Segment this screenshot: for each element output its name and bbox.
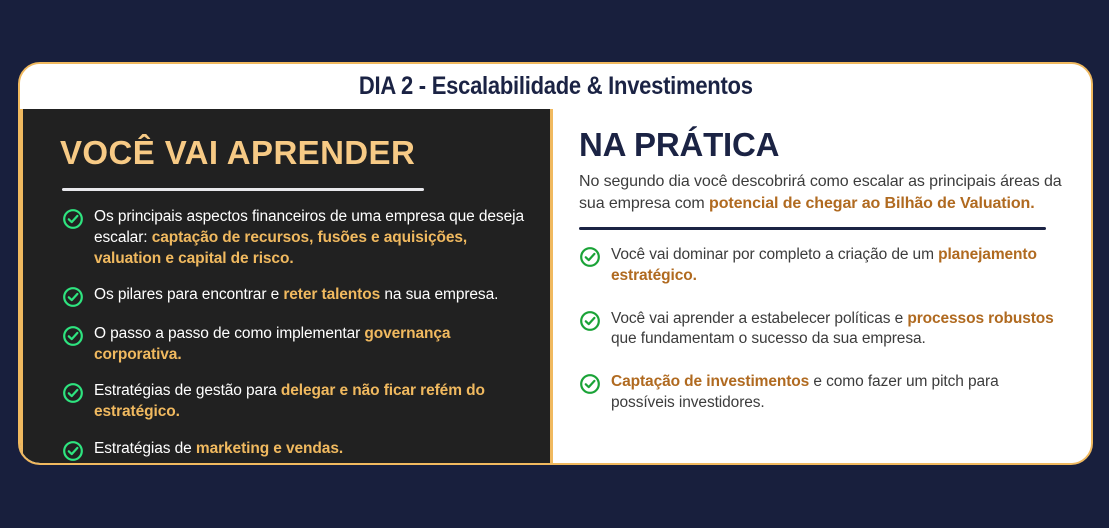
- check-circle-icon: [62, 325, 84, 347]
- body-text: Estratégias de gestão para: [94, 382, 281, 399]
- highlight-text: Captação de investimentos: [611, 373, 809, 390]
- list-item: Estratégias de gestão para delegar e não…: [62, 381, 526, 422]
- list-item-label: Você vai dominar por completo a criação …: [611, 245, 1065, 286]
- list-item-label: Os principais aspectos financeiros de um…: [94, 207, 526, 269]
- highlight-text: marketing e vendas.: [196, 440, 343, 457]
- right-panel-heading: NA PRÁTICA: [579, 127, 1065, 163]
- body-text: na sua empresa.: [380, 286, 498, 303]
- body-text: Estratégias de: [94, 440, 196, 457]
- highlight-text: potencial de chegar ao Bilhão de Valuati…: [709, 195, 1035, 212]
- list-item: Estratégias de marketing e vendas.: [62, 439, 526, 462]
- left-panel-list: Os principais aspectos financeiros de um…: [62, 207, 526, 461]
- slide-root: DIA 2 - Escalabilidade & Investimentos V…: [0, 0, 1109, 528]
- check-circle-icon: [62, 440, 84, 462]
- list-item-label: Estratégias de gestão para delegar e não…: [94, 381, 526, 422]
- body-text: Você vai aprender a estabelecer política…: [611, 310, 907, 327]
- body-text: Você vai dominar por completo a criação …: [611, 246, 938, 263]
- highlight-text: reter talentos: [283, 286, 380, 303]
- right-panel-divider: [579, 227, 1046, 230]
- list-item: Captação de investimentos e como fazer u…: [579, 372, 1065, 413]
- content-card: DIA 2 - Escalabilidade & Investimentos V…: [18, 62, 1093, 465]
- check-circle-icon: [579, 246, 601, 268]
- left-panel-divider: [62, 188, 424, 191]
- card-title-bar: DIA 2 - Escalabilidade & Investimentos: [20, 64, 1091, 109]
- page-title: DIA 2 - Escalabilidade & Investimentos: [359, 72, 753, 101]
- list-item: Os pilares para encontrar e reter talent…: [62, 285, 526, 308]
- right-panel-list: Você vai dominar por completo a criação …: [579, 245, 1065, 413]
- list-item: Você vai aprender a estabelecer política…: [579, 309, 1065, 350]
- list-item-label: Os pilares para encontrar e reter talent…: [94, 285, 498, 306]
- list-item-label: O passo a passo de como implementar gove…: [94, 324, 526, 365]
- check-circle-icon: [579, 373, 601, 395]
- check-circle-icon: [62, 382, 84, 404]
- list-item: Você vai dominar por completo a criação …: [579, 245, 1065, 286]
- check-circle-icon: [62, 208, 84, 230]
- check-circle-icon: [62, 286, 84, 308]
- list-item-label: Captação de investimentos e como fazer u…: [611, 372, 1065, 413]
- body-text: O passo a passo de como implementar: [94, 325, 364, 342]
- left-panel: VOCÊ VAI APRENDER Os principais aspectos…: [20, 109, 553, 463]
- card-body: VOCÊ VAI APRENDER Os principais aspectos…: [20, 109, 1091, 463]
- list-item: Os principais aspectos financeiros de um…: [62, 207, 526, 269]
- list-item: O passo a passo de como implementar gove…: [62, 324, 526, 365]
- left-panel-heading: VOCÊ VAI APRENDER: [60, 135, 526, 171]
- list-item-label: Você vai aprender a estabelecer política…: [611, 309, 1065, 350]
- right-panel-intro: No segundo dia você descobrirá como esca…: [579, 171, 1065, 214]
- body-text: Os pilares para encontrar e: [94, 286, 283, 303]
- right-panel: NA PRÁTICA No segundo dia você descobrir…: [553, 109, 1091, 463]
- check-circle-icon: [579, 310, 601, 332]
- body-text: que fundamentam o sucesso da sua empresa…: [611, 330, 926, 347]
- highlight-text: processos robustos: [907, 310, 1053, 327]
- list-item-label: Estratégias de marketing e vendas.: [94, 439, 343, 460]
